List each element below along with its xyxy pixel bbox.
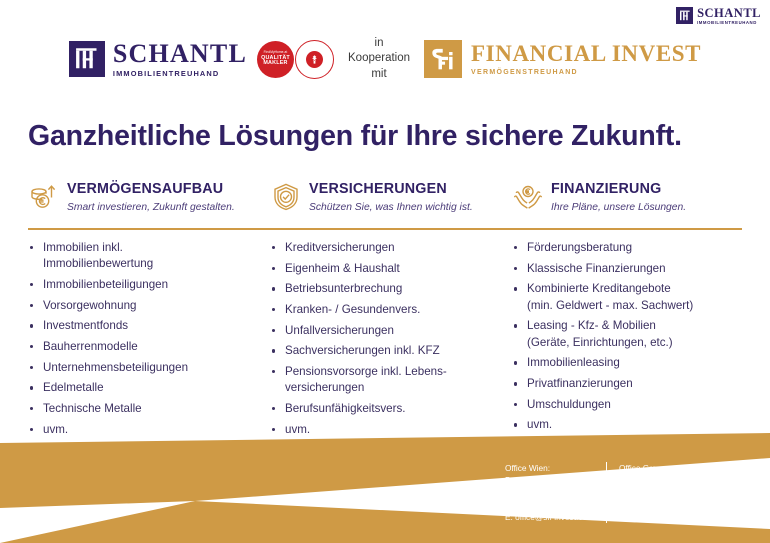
list-item: Vorsorgewohnung [28,298,256,314]
ith-monogram-icon [69,41,105,77]
section-subtitle: Smart investieren, Zukunft gestalten. [67,202,235,214]
office-label: Office Wien: [505,462,594,474]
section-title: FINANZIERUNG [551,182,686,198]
list-item-label: Klassische Finanzierungen [527,262,666,275]
list-item: Umschuldungen [512,397,732,413]
section-header-text: VERSICHERUNGEN Schützen Sie, was Ihnen w… [309,180,473,214]
page-headline: Ganzheitliche Lösungen für Ihre sichere … [28,120,682,153]
list-item-label: Leasing - Kfz- & Mobilien [527,319,656,332]
list-item-continuation: versicherungen [285,380,494,396]
list-item: Pensionsvorsorge inkl. Lebens-versicheru… [270,364,494,397]
list-item: Eigenheim & Haushalt [270,261,494,277]
list-item-label: Unfallversicherungen [285,324,394,337]
list-item-label: Sachversicherungen inkl. KFZ [285,344,440,357]
corner-logo-schantl: SCHANTL IMMOBILIENTREUHAND [676,7,761,25]
section-title: VERMÖGENSAUFBAU [67,182,235,198]
list-item-label: Kombinierte Kreditangebote [527,282,671,295]
coins-euro-growth-icon [28,181,60,213]
list-item: Privatfinanzierungen [512,376,732,392]
austrian-eagle-icon [306,51,323,68]
list-item-label: Kreditversicherungen [285,241,395,254]
list-item-label: Kranken- / Gesundenvers. [285,303,420,316]
list-item: Immobilienleasing [512,355,732,371]
office-street: Passauer Platz 6 [505,474,594,486]
ith-logo-words: SCHANTL IMMOBILIENTREUHAND [113,41,247,77]
ith-logo-tagline: IMMOBILIENTREUHAND [113,70,247,77]
list-item: Sachversicherungen inkl. KFZ [270,343,494,359]
office-city: 1010 Wien [505,486,594,498]
list-item: Klassische Finanzierungen [512,261,732,277]
office-label: Office Graz: [619,462,704,474]
sfi-logo-name: FINANCIAL INVEST [471,42,701,65]
list-item-label: Investmentfonds [43,319,128,332]
list-item-continuation: (min. Geldwert - max. Sachwert) [527,298,732,314]
section-subtitle: Ihre Pläne, unsere Lösungen. [551,202,686,214]
list-versicherungen: Kreditversicherungen Eigenheim & Haushal… [266,240,504,442]
section-title: VERSICHERUNGEN [309,182,473,198]
list-item-label: Immobilien inkl. [43,241,123,254]
section-divider-rule [28,228,742,230]
sfi-logo-tagline: VERMÖGENSTREUHAND [471,69,701,76]
ith-monogram-icon [676,7,693,24]
list-item: Kreditversicherungen [270,240,494,256]
list-item-label: Technische Metalle [43,402,142,415]
list-item: Technische Metalle [28,401,256,417]
list-item: Förderungsberatung [512,240,732,256]
list-item: Unternehmensbeteiligungen [28,360,256,376]
list-item-label: Pensionsvorsorge inkl. Lebens- [285,365,447,378]
ith-logo: SCHANTL IMMOBILIENTREUHAND [69,41,247,77]
wko-immobilientreuhaender-seal-icon [295,40,334,79]
list-finanzierung: Förderungsberatung Klassische Finanzieru… [504,240,742,442]
list-vermoegensaufbau: Immobilien inkl.Immobilienbewertung Immo… [28,240,266,442]
corner-logo-tagline: IMMOBILIENTREUHAND [697,21,761,25]
list-item-continuation: Immobilienbewertung [43,256,256,272]
office-city: 8041 Graz [619,486,704,498]
header-logo-band: SCHANTL IMMOBILIENTREUHAND FindMyHome.at… [0,33,770,85]
office-email[interactable]: E: office@schantl-ith.at [619,511,704,523]
section-subtitle: Schützen Sie, was Ihnen wichtig ist. [309,202,473,214]
list-item: Bauherrenmodelle [28,339,256,355]
list-item-label: Eigenheim & Haushalt [285,262,400,275]
certification-seals: FindMyHome.at QUALITÄT MAKLER [257,40,334,79]
bullet-list: Förderungsberatung Klassische Finanzieru… [512,240,732,434]
corner-logo-name: SCHANTL [697,7,761,20]
office-phone[interactable]: T: +43 664 307 00 09 [505,499,594,511]
list-item-label: Förderungsberatung [527,241,632,254]
list-item: Leasing - Kfz- & Mobilien(Geräte, Einric… [512,318,732,351]
list-item: Kombinierte Kreditangebote(min. Geldwert… [512,281,732,314]
list-item-label: Immobilienbeteiligungen [43,278,168,291]
hands-holding-coin-icon [512,181,544,213]
list-item-label: Betriebsunterbrechung [285,282,402,295]
section-versicherungen-header: VERSICHERUNGEN Schützen Sie, was Ihnen w… [266,180,504,222]
list-item-label: Bauherrenmodelle [43,340,138,353]
list-item-label: Berufsunfähigkeitsvers. [285,402,406,415]
section-headers: VERMÖGENSAUFBAU Smart investieren, Zukun… [28,180,742,222]
list-item: Betriebsunterbrechung [270,281,494,297]
list-item-label: Immobilienleasing [527,356,620,369]
cooperation-line-1: in [348,36,410,52]
section-header-text: VERMÖGENSAUFBAU Smart investieren, Zukun… [67,180,235,214]
ith-logo-name: SCHANTL [113,41,247,67]
list-item: Immobilien inkl.Immobilienbewertung [28,240,256,273]
cooperation-line-3: mit [348,67,410,83]
list-item: Investmentfonds [28,318,256,334]
list-item: Kranken- / Gesundenvers. [270,302,494,318]
office-phone[interactable]: T: +43 664 541 10 47 [619,499,704,511]
seal-line-3: MAKLER [263,61,287,66]
corner-logo-words: SCHANTL IMMOBILIENTREUHAND [697,7,761,25]
list-item-label: Edelmetalle [43,381,104,394]
list-item-continuation: (Geräte, Einrichtungen, etc.) [527,335,732,351]
shield-check-icon [270,181,302,213]
list-item-label: Umschuldungen [527,398,611,411]
list-item-label: Unternehmensbeteiligungen [43,361,188,374]
flyer-page: SCHANTL IMMOBILIENTREUHAND SCHANTL IMMOB… [0,0,770,543]
list-item-label: Privatfinanzierungen [527,377,633,390]
list-item: Berufsunfähigkeitsvers. [270,401,494,417]
sfi-logo-words: FINANCIAL INVEST VERMÖGENSTREUHAND [471,42,701,76]
list-item: Immobilienbeteiligungen [28,277,256,293]
cooperation-line-2: Kooperation [348,51,410,67]
section-vermoegensaufbau-header: VERMÖGENSAUFBAU Smart investieren, Zukun… [28,180,266,222]
footer-contacts: Office Wien: Passauer Platz 6 1010 Wien … [505,462,704,523]
sfi-monogram-icon [424,40,462,78]
section-lists: Immobilien inkl.Immobilienbewertung Immo… [28,240,742,442]
sfi-logo: FINANCIAL INVEST VERMÖGENSTREUHAND [424,40,701,78]
section-finanzierung-header: FINANZIERUNG Ihre Pläne, unsere Lösungen… [504,180,742,222]
section-header-text: FINANZIERUNG Ihre Pläne, unsere Lösungen… [551,180,686,214]
qualitaets-makler-seal-icon: FindMyHome.at QUALITÄT MAKLER [257,41,294,78]
list-item: Edelmetalle [28,380,256,396]
office-street: Messendorferstr. 71a [619,474,704,486]
list-item-label: Vorsorgewohnung [43,299,136,312]
bullet-list: Kreditversicherungen Eigenheim & Haushal… [270,240,494,438]
office-wien-block: Office Wien: Passauer Platz 6 1010 Wien … [505,462,606,523]
bullet-list: Immobilien inkl.Immobilienbewertung Immo… [28,240,256,438]
list-item: Unfallversicherungen [270,323,494,339]
office-email[interactable]: E: office@sfi-invest.com [505,511,594,523]
cooperation-label: in Kooperation mit [348,36,410,83]
office-graz-block: Office Graz: Messendorferstr. 71a 8041 G… [606,462,704,523]
